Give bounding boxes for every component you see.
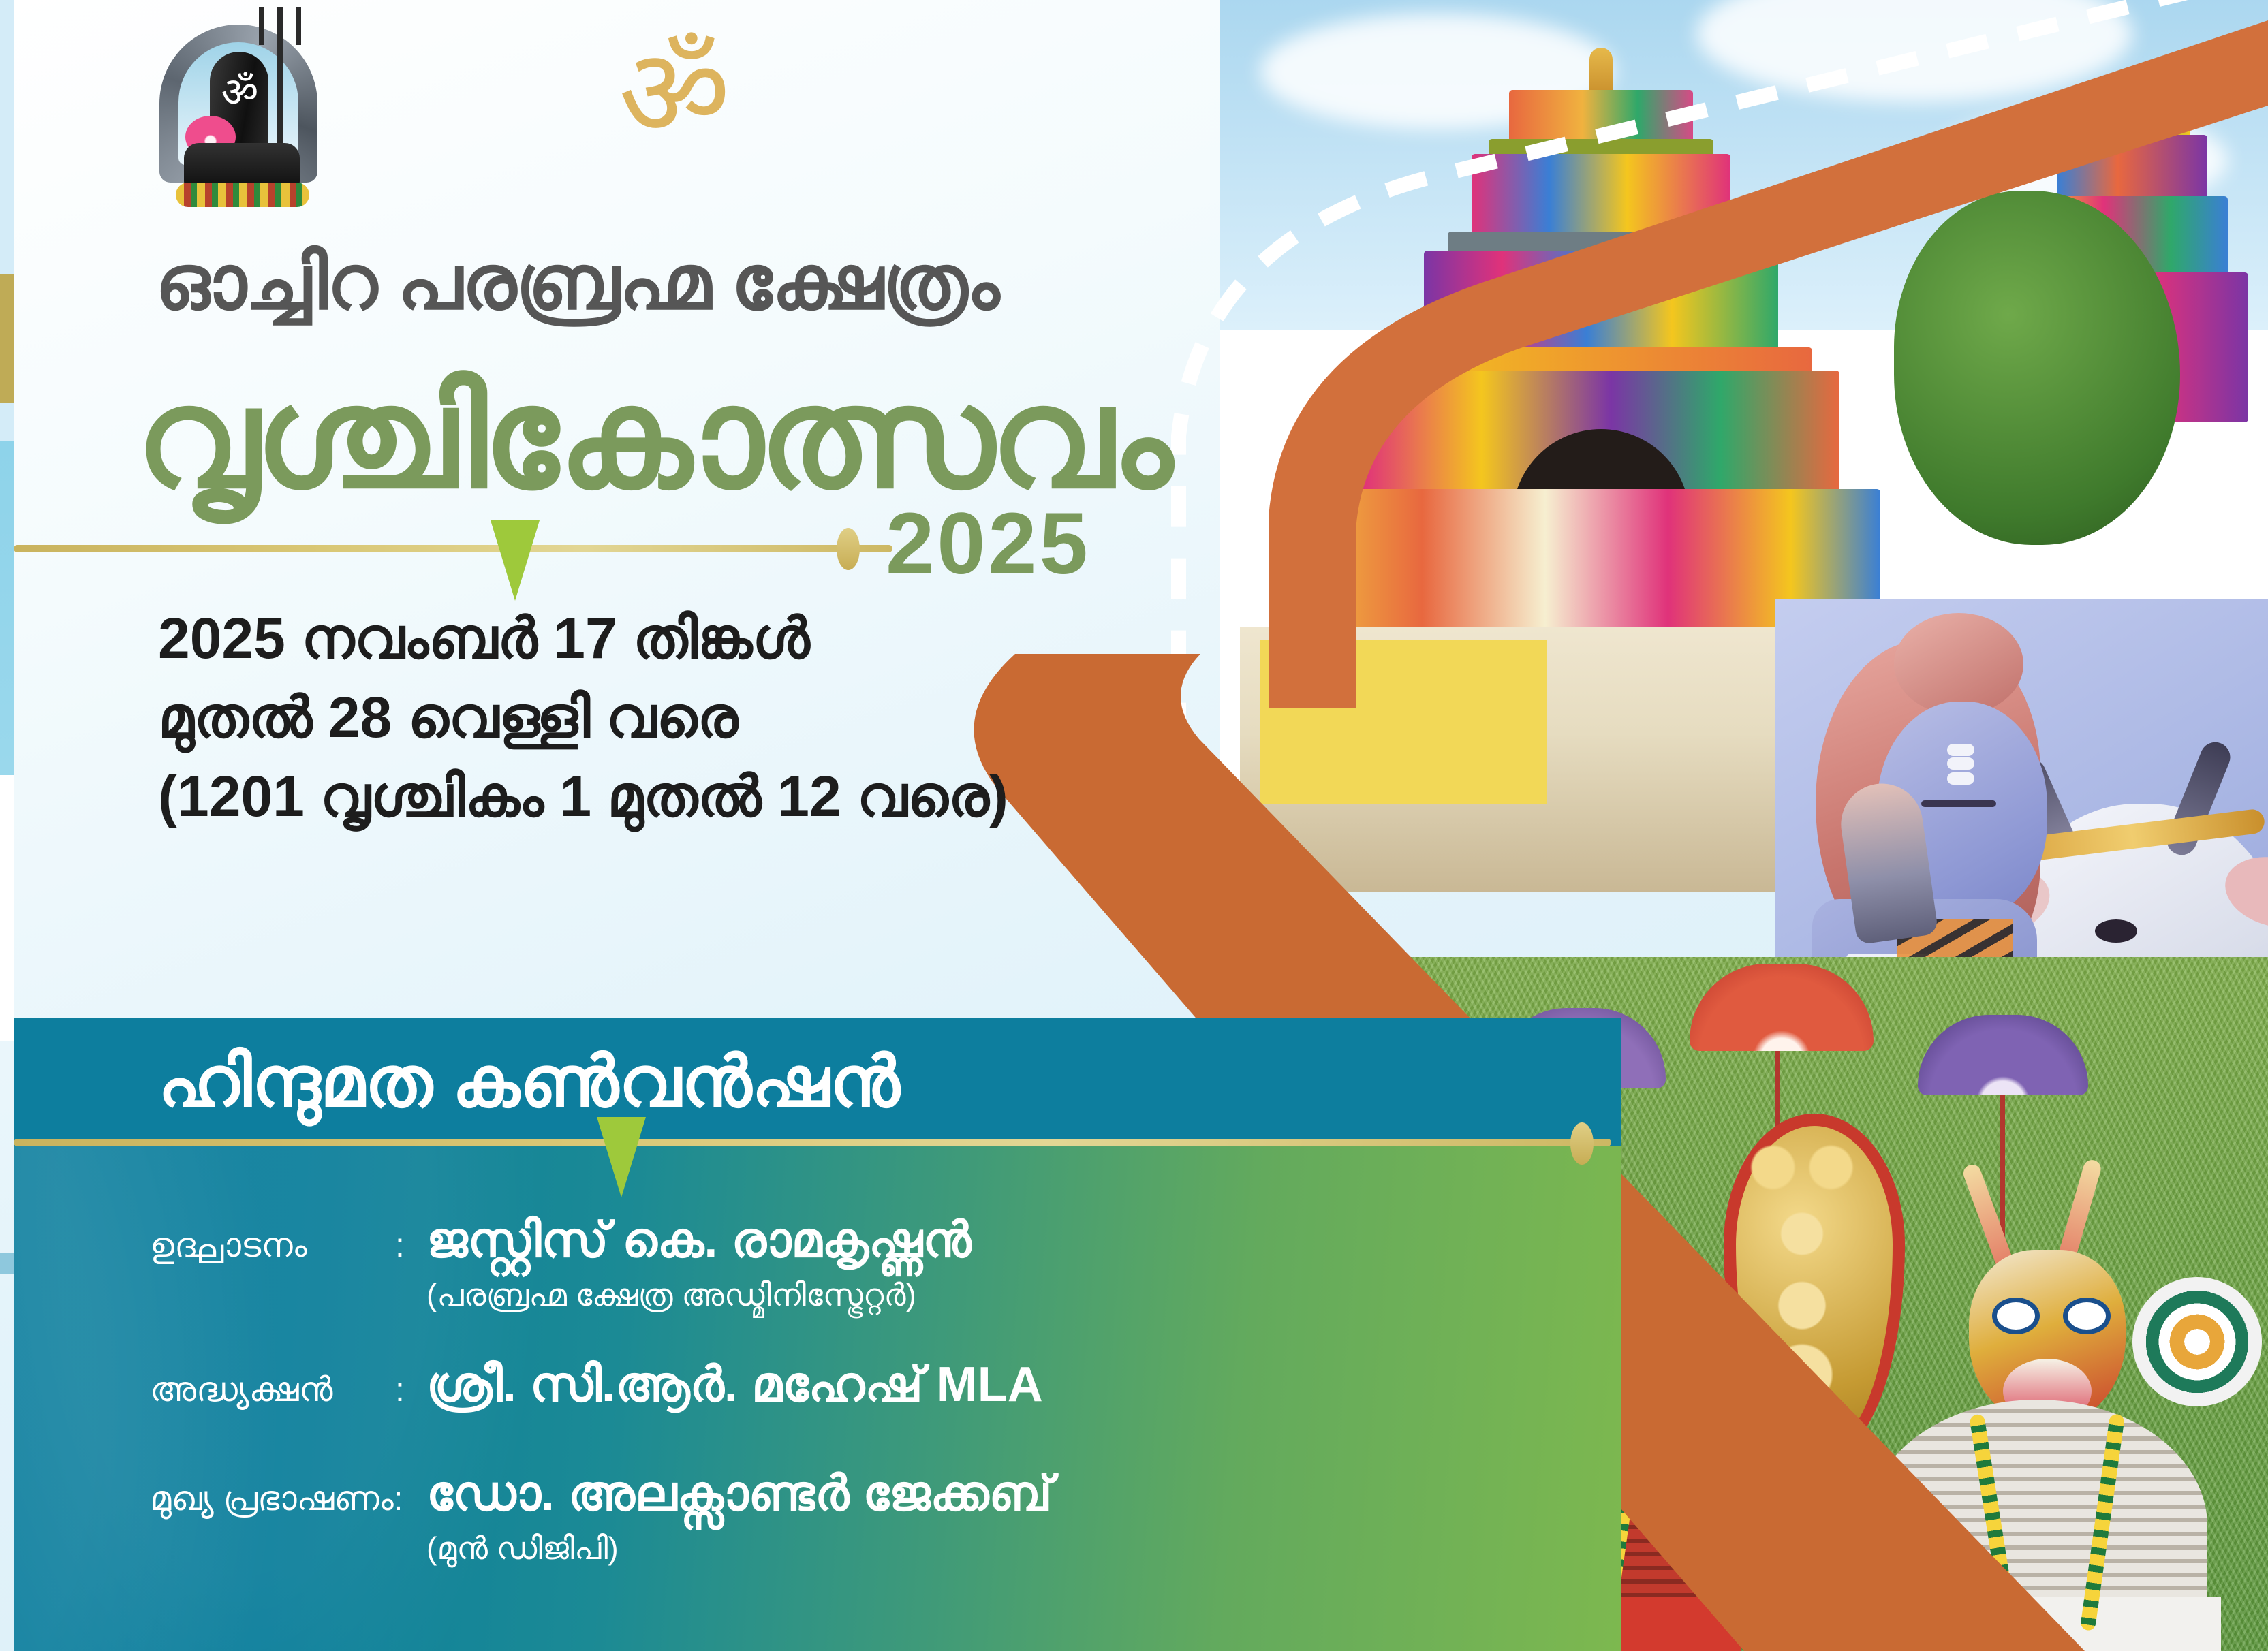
detail-label-inauguration: ഉദ്ഘാടനം [150,1225,395,1265]
edge-segment-lightblue-top [0,0,14,274]
umbrella-center [1690,964,1874,1051]
gopuram-tier-3 [1472,154,1730,236]
detail-colon-inauguration: : [395,1225,426,1265]
logo-bead-ring [176,183,309,207]
gopuram-tier-5 [1424,251,1778,353]
bull-right-lower-cloth [1853,1597,2221,1651]
title-gold-dot [837,528,860,570]
edge-segment-teal-bottom [0,1253,14,1274]
detail-row-chairperson: അദ്ധ്യക്ഷൻ : ശ്രീ. സി.ആർ. മഹേഷ് MLA [150,1357,1308,1414]
detail-row-keynote: മുഖ്യ പ്രഭാഷണം: ഡോ. അലക്സാണ്ടർ ജേക്കബ് [150,1466,1308,1523]
temple-name: ഓച്ചിറ പരബ്രഹ്മ ക്ഷേത്രം [155,238,1150,328]
detail-value-chairperson: ശ്രീ. സി.ആർ. മഹേഷ് MLA [426,1357,1043,1414]
detail-value-inauguration: ജസ്റ്റിസ് കെ. രാമകൃഷ്ണൻ [426,1212,972,1270]
shiva-lingam-om-logo: ॐ [150,7,327,211]
detail-sub-keynote: (മുൻ ഡിജിപി) [426,1530,1308,1568]
detail-label-chairperson: അദ്ധ്യക്ഷൻ [150,1370,395,1410]
detail-label-keynote: മുഖ്യ പ്രഭാഷണം: [150,1479,426,1519]
nandi-eye [2095,919,2137,943]
umbrella-right [1918,1015,2088,1095]
detail-value-keynote: ഡോ. അലക്സാണ്ടർ ജേക്കബ് [426,1466,1053,1523]
date-line-2: മുതൽ 28 വെള്ളി വരെ [158,678,1044,757]
festival-date-block: 2025 നവംബർ 17 തിങ്കൾ മുതൽ 28 വെള്ളി വരെ … [158,599,1044,836]
edge-segment-white [0,775,14,1041]
ceremonial-wheel-disc-right [2132,1277,2262,1406]
festival-title: വൃശ്ചികോത്സവം [136,368,1172,508]
gopuram-main [1322,48,1880,640]
detail-colon-chairperson: : [395,1370,426,1409]
shiva-third-eye [1947,757,1974,770]
panel-green-marker [597,1117,646,1197]
title-green-marker [491,520,540,601]
date-line-1: 2025 നവംബർ 17 തിങ്കൾ [158,599,1044,678]
detail-sub-inauguration: (പരബ്രഹ്മ ക്ഷേത്ര അഡ്മിനിസ്ട്രേറ്റർ) [426,1276,1308,1315]
festival-poster: ॐ ॐ ഓച്ചിറ പരബ്രഹ്മ ക്ഷേത്രം വൃശ്ചികോത്സ… [0,0,2268,1651]
panel-gold-rule [14,1139,1611,1146]
gopuram-finial [1589,48,1613,95]
gopuram-tier-1 [1509,90,1693,143]
gopuram2-tier-1 [2075,97,2190,138]
gopuram2-tier-2 [2057,135,2207,200]
date-line-3: (1201 വൃശ്ചികം 1 മുതൽ 12 വരെ) [158,757,1044,836]
left-edge-strip [0,0,14,1651]
edge-segment-skyblue [0,441,14,775]
gopuram2-finial [2124,68,2141,101]
convention-details: ഉദ്ഘാടനം : ജസ്റ്റിസ് കെ. രാമകൃഷ്ണൻ (പരബ്… [150,1212,1308,1568]
yellow-shrine-wall [1260,640,1547,804]
edge-segment-gold [0,274,14,403]
bull-right-eye-b [2063,1298,2111,1334]
nettipattam-bosses [1744,1141,1860,1406]
title-gold-rule [14,545,892,552]
om-icon: ॐ [600,33,749,155]
shiva-topknot [1894,613,2023,715]
panel-gold-dot [1570,1122,1594,1165]
convention-title: ഹിന്ദുമത കൺവൻഷൻ [158,1042,1453,1124]
bull-right-eye-a [1992,1298,2040,1334]
logo-trishula-prongs [259,7,301,48]
logo-om-glyph: ॐ [213,72,267,113]
festival-year: 2025 [886,501,1091,588]
shiva-eye-closed [1921,800,1996,807]
detail-row-inauguration: ഉദ്ഘാടനം : ജസ്റ്റിസ് കെ. രാമകൃഷ്ണൻ [150,1212,1308,1270]
